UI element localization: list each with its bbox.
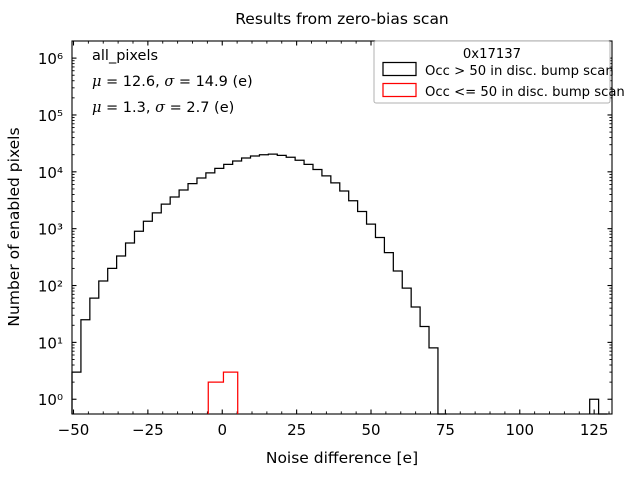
y-tick-label: 10⁴: [38, 164, 63, 182]
histogram-step-red: [208, 372, 237, 414]
legend-label: Occ > 50 in disc. bump scan: [425, 64, 614, 79]
annotation-text: μ = 1.3, σ = 2.7 (e): [92, 100, 234, 116]
y-axis-label: Number of enabled pixels: [5, 127, 23, 326]
histogram-step-black: [590, 399, 608, 414]
figure-canvas: −50−250255075100125 10⁰10¹10²10³10⁴10⁵10…: [0, 0, 640, 480]
y-tick-label: 10⁶: [38, 50, 63, 68]
y-tick-label: 10¹: [38, 334, 63, 352]
stats-annotations: all_pixelsμ = 12.6, σ = 14.9 (e)μ = 1.3,…: [92, 48, 253, 116]
x-tick-label: 75: [436, 421, 455, 439]
annotation-text: μ = 12.6, σ = 14.9 (e): [92, 74, 253, 90]
x-tick-label: 100: [505, 421, 534, 439]
legend-label: Occ <= 50 in disc. bump scan: [425, 85, 625, 100]
chart-svg: −50−250255075100125 10⁰10¹10²10³10⁴10⁵10…: [0, 0, 640, 480]
legend-title: 0x17137: [463, 47, 521, 62]
y-tick-label: 10⁵: [38, 107, 63, 125]
x-tick-label: −50: [58, 421, 90, 439]
y-tick-label: 10³: [38, 221, 63, 239]
annotation-text: all_pixels: [92, 48, 158, 64]
x-tick-label: 25: [287, 421, 306, 439]
x-tick-label: 50: [361, 421, 380, 439]
x-tick-label: −25: [132, 421, 164, 439]
histogram-step-black: [72, 154, 447, 414]
y-tick-label: 10²: [38, 278, 63, 296]
histogram-series: [72, 154, 608, 414]
y-tick-label: 10⁰: [38, 391, 63, 409]
x-tick-label: 0: [217, 421, 227, 439]
x-axis-label: Noise difference [e]: [266, 449, 418, 467]
x-tick-label: 125: [580, 421, 609, 439]
legend: 0x17137 Occ > 50 in disc. bump scanOcc <…: [374, 41, 625, 103]
chart-title: Results from zero-bias scan: [235, 10, 449, 28]
